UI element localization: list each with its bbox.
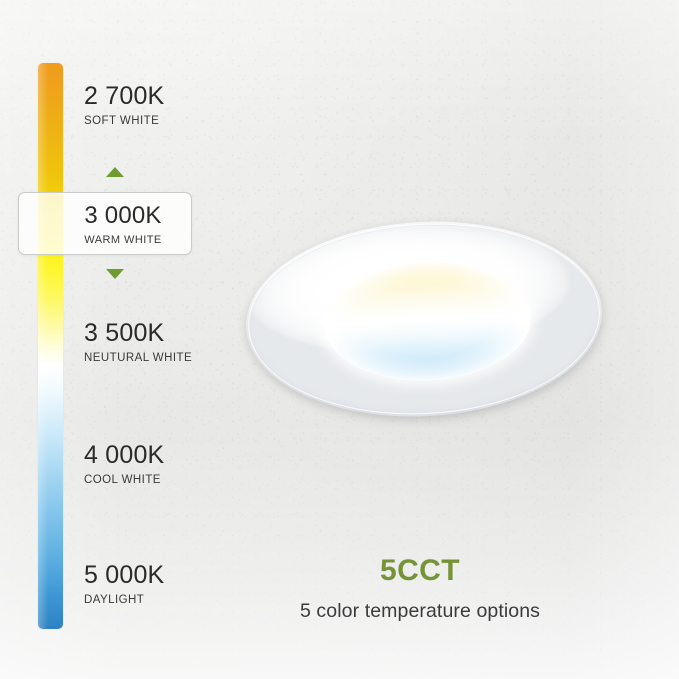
feature-caption: 5CCT 5 color temperature options	[230, 556, 610, 622]
cct-subtitle: 5 color temperature options	[230, 602, 610, 622]
kelvin-option-5000k[interactable]: 5 000K DAYLIGHT	[84, 563, 164, 607]
downlight-fixture	[246, 218, 608, 422]
scroll-up-arrow-icon[interactable]	[106, 167, 124, 177]
kelvin-value: 3 500K	[84, 321, 192, 346]
kelvin-value: 4 000K	[84, 443, 164, 468]
kelvin-option-2700k[interactable]: 2 700K SOFT WHITE	[84, 84, 164, 128]
kelvin-option-3500k[interactable]: 3 500K NEUTURAL WHITE	[84, 321, 192, 365]
kelvin-name: SOFT WHITE	[84, 116, 164, 128]
color-temperature-gradient-bar	[38, 63, 63, 629]
kelvin-name: NEUTURAL WHITE	[84, 353, 192, 365]
gradient-bar-highlight	[38, 63, 48, 629]
kelvin-name: COOL WHITE	[84, 475, 164, 487]
scroll-down-arrow-icon[interactable]	[106, 269, 124, 279]
kelvin-option-4000k[interactable]: 4 000K COOL WHITE	[84, 443, 164, 487]
product-feature-scene: 2 700K SOFT WHITE 3 500K NEUTURAL WHITE …	[0, 0, 679, 679]
selected-kelvin-value: 3 000K	[55, 204, 191, 228]
kelvin-value: 2 700K	[84, 84, 164, 109]
selected-color-temperature-card[interactable]: 3 000K WARM WHITE	[18, 192, 192, 255]
selected-kelvin-name: WARM WHITE	[55, 235, 191, 246]
cct-title: 5CCT	[230, 556, 610, 586]
kelvin-value: 5 000K	[84, 563, 164, 588]
kelvin-name: DAYLIGHT	[84, 595, 164, 607]
